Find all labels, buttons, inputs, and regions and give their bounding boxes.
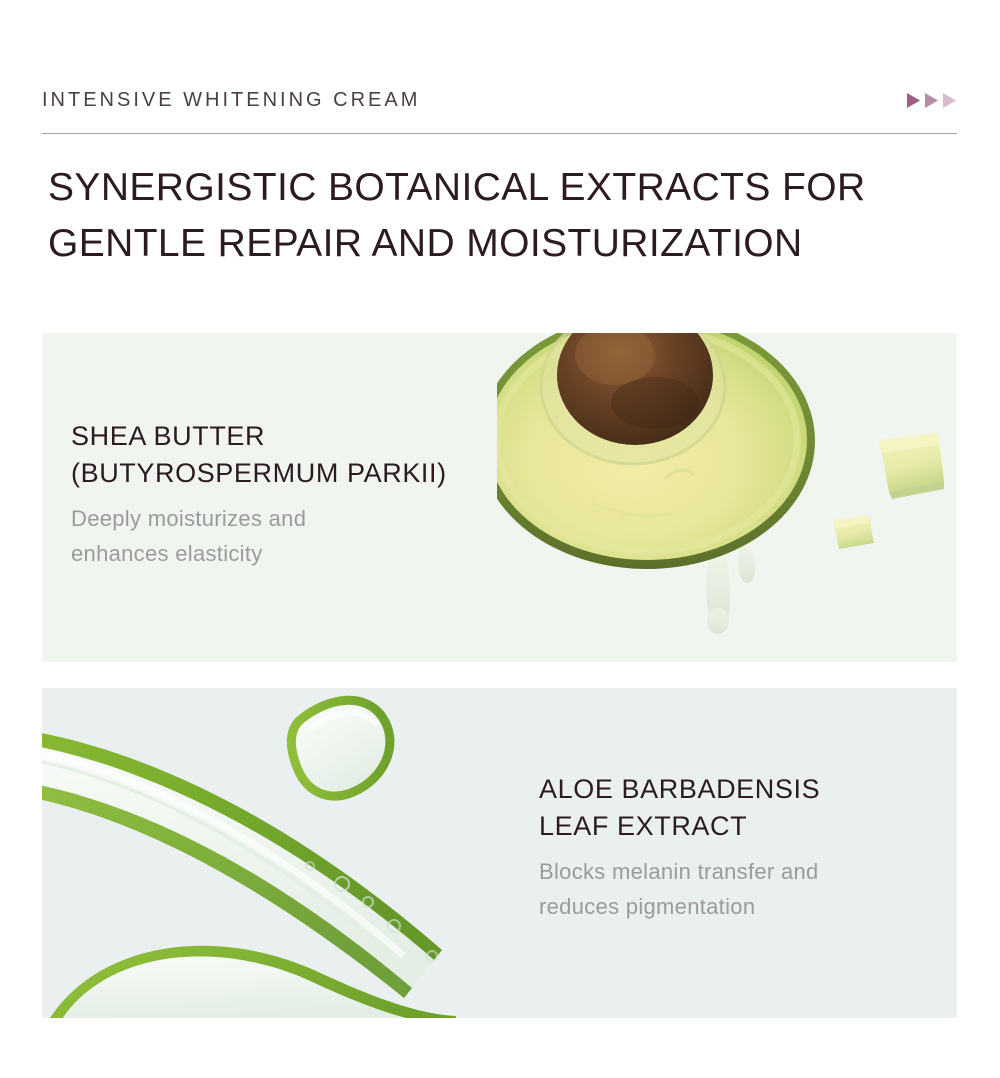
ingredient-text-block: ALOE BARBADENSIS LEAF EXTRACT Blocks mel…	[539, 771, 820, 924]
triple-chevron-right-icon	[906, 92, 957, 109]
page-title-line-1: SYNERGISTIC BOTANICAL EXTRACTS FOR	[48, 160, 958, 216]
ingredient-title-line-2: LEAF EXTRACT	[539, 808, 820, 845]
eyebrow-label: INTENSIVE WHITENING CREAM	[42, 89, 420, 112]
avocado-half-with-oil-drip-photo	[497, 333, 957, 662]
product-detail-page: INTENSIVE WHITENING CREAM SYNERGISTIC BO…	[0, 0, 1000, 1078]
page-title-line-2: GENTLE REPAIR AND MOISTURIZATION	[48, 216, 958, 272]
ingredient-desc-line-1: Blocks melanin transfer and	[539, 854, 820, 889]
ingredient-desc-line-1: Deeply moisturizes and	[71, 501, 447, 536]
ingredient-title-line-1: ALOE BARBADENSIS	[539, 771, 820, 808]
ingredient-card-shea-butter: SHEA BUTTER (BUTYROSPERMUM PARKII) Deepl…	[42, 333, 957, 662]
ingredient-card-aloe-barbadensis: ALOE BARBADENSIS LEAF EXTRACT Blocks mel…	[42, 688, 957, 1018]
ingredient-title-line-2: (BUTYROSPERMUM PARKII)	[71, 455, 447, 492]
ingredient-desc-line-2: reduces pigmentation	[539, 889, 820, 924]
ingredient-title-line-1: SHEA BUTTER	[71, 418, 447, 455]
header-divider	[42, 133, 957, 134]
page-title: SYNERGISTIC BOTANICAL EXTRACTS FOR GENTL…	[48, 160, 958, 272]
ingredient-desc-line-2: enhances elasticity	[71, 536, 447, 571]
ingredient-text-block: SHEA BUTTER (BUTYROSPERMUM PARKII) Deepl…	[71, 418, 447, 571]
aloe-vera-leaf-gel-slices-photo	[42, 688, 562, 1018]
section-header: INTENSIVE WHITENING CREAM	[42, 78, 957, 122]
